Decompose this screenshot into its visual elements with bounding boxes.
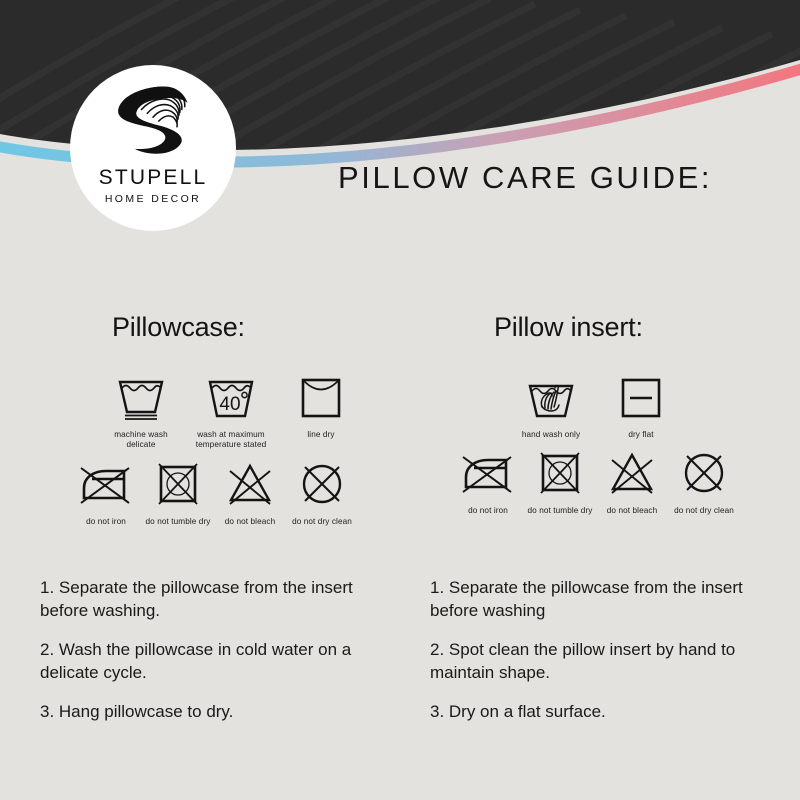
- icon-row-pillowcase-primary: machine washdelicate 40 wash at maximumt…: [34, 372, 404, 451]
- do-not-bleach-icon: do not bleach: [214, 459, 286, 527]
- icon-row-insert-primary: hand wash only dry flat: [424, 372, 794, 440]
- wash-max-temperature-glyph: 40: [203, 372, 259, 424]
- do-not-tumble-dry-glyph: [152, 459, 204, 511]
- do-not-iron-icon: do not iron: [452, 448, 524, 516]
- brand-logo-badge: STUPELL HOME DECOR: [70, 65, 236, 231]
- icon-caption: do not tumble dry: [146, 517, 211, 527]
- icon-caption: do not iron: [468, 506, 508, 516]
- icon-caption: do not bleach: [607, 506, 657, 516]
- icon-row-insert-secondary: do not iron do not tumble dry: [424, 448, 794, 516]
- icon-caption: do not dry clean: [292, 517, 352, 527]
- instruction-item: 2. Spot clean the pillow insert by hand …: [430, 639, 775, 684]
- do-not-bleach-icon: do not bleach: [596, 448, 668, 516]
- dry-flat-icon: dry flat: [596, 372, 686, 440]
- hand-wash-only-icon: hand wash only: [506, 372, 596, 440]
- icon-caption: machine washdelicate: [114, 430, 168, 451]
- instruction-item: 1. Separate the pillowcase from the inse…: [430, 577, 775, 622]
- icon-caption: line dry: [307, 430, 334, 440]
- wash-max-temperature-icon: 40 wash at maximumtemperature stated: [186, 372, 276, 451]
- dry-flat-glyph: [615, 372, 667, 424]
- brand-tagline: HOME DECOR: [105, 194, 201, 205]
- column-pillowcase: Pillowcase: machine washdelicate 40: [34, 312, 404, 527]
- instruction-item: 1. Separate the pillowcase from the inse…: [40, 577, 385, 622]
- do-not-tumble-dry-icon: do not tumble dry: [524, 448, 596, 516]
- icon-caption: do not tumble dry: [528, 506, 593, 516]
- icon-caption: do not dry clean: [674, 506, 734, 516]
- do-not-dry-clean-glyph: [296, 459, 348, 511]
- machine-wash-delicate-glyph: [113, 372, 169, 424]
- icon-caption: wash at maximumtemperature stated: [196, 430, 267, 451]
- instruction-item: 3. Hang pillowcase to dry.: [40, 701, 385, 724]
- column-title-pillowcase: Pillowcase:: [34, 312, 404, 356]
- instruction-item: 2. Wash the pillowcase in cold water on …: [40, 639, 385, 684]
- line-dry-icon: line dry: [276, 372, 366, 440]
- icon-row-pillowcase-secondary: do not iron do not tumble dry: [34, 459, 404, 527]
- do-not-iron-icon: do not iron: [70, 459, 142, 527]
- column-title-pillow-insert: Pillow insert:: [424, 312, 794, 356]
- icon-caption: do not iron: [86, 517, 126, 527]
- do-not-bleach-glyph: [606, 448, 658, 500]
- icon-caption: dry flat: [628, 430, 653, 440]
- do-not-iron-glyph: [460, 448, 516, 500]
- do-not-bleach-glyph: [224, 459, 276, 511]
- do-not-tumble-dry-icon: do not tumble dry: [142, 459, 214, 527]
- page-title: PILLOW CARE GUIDE:: [338, 160, 712, 196]
- icon-caption: do not bleach: [225, 517, 275, 527]
- instruction-item: 3. Dry on a flat surface.: [430, 701, 775, 724]
- do-not-dry-clean-icon: do not dry clean: [286, 459, 358, 527]
- column-pillow-insert: Pillow insert: hand wash only: [424, 312, 794, 517]
- instructions-pillowcase: 1. Separate the pillowcase from the inse…: [40, 560, 385, 738]
- do-not-dry-clean-glyph: [678, 448, 730, 500]
- line-dry-glyph: [295, 372, 347, 424]
- svg-text:40: 40: [219, 394, 240, 415]
- instructions-pillow-insert: 1. Separate the pillowcase from the inse…: [430, 560, 775, 738]
- icon-caption: hand wash only: [522, 430, 580, 440]
- hand-wash-only-glyph: [523, 372, 579, 424]
- do-not-tumble-dry-glyph: [534, 448, 586, 500]
- do-not-iron-glyph: [78, 459, 134, 511]
- machine-wash-delicate-icon: machine washdelicate: [96, 372, 186, 451]
- brand-name: STUPELL: [99, 167, 208, 188]
- stupell-swoosh-logo-icon: [105, 79, 201, 165]
- do-not-dry-clean-icon: do not dry clean: [668, 448, 740, 516]
